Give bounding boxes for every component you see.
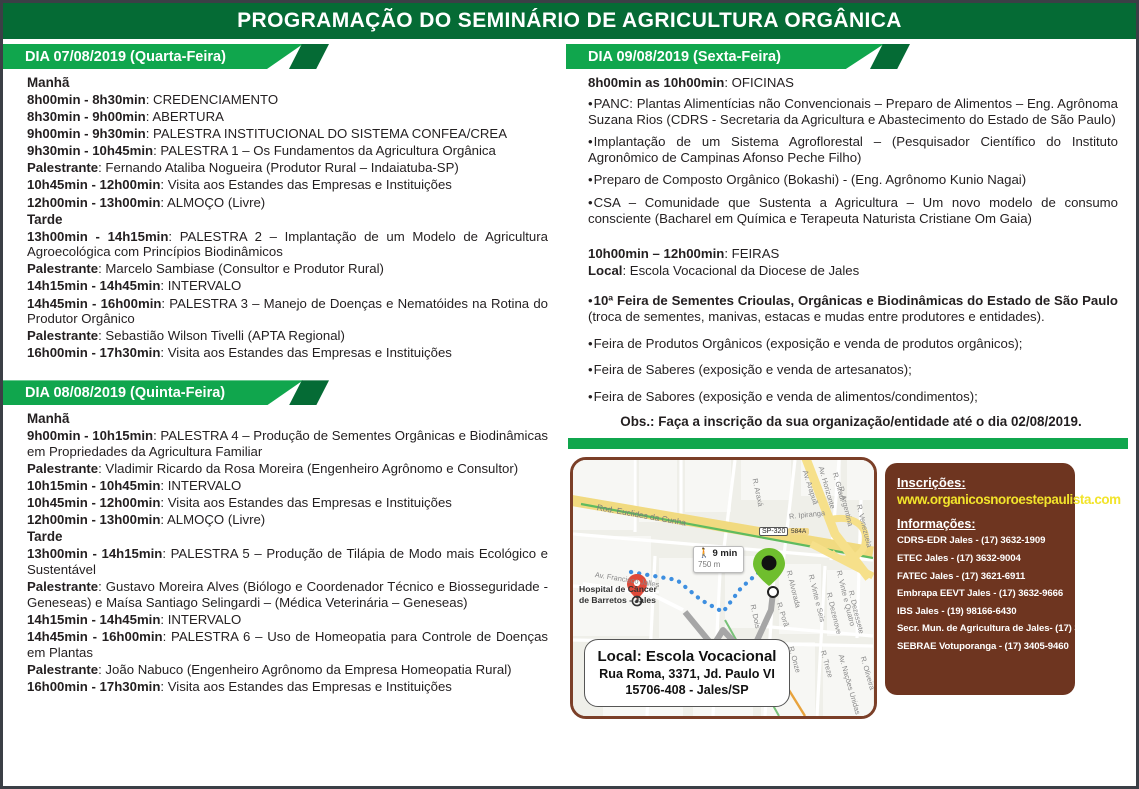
oficina-item: CSA – Comunidade que Sustenta a Agricult… [588,195,1118,226]
time-label: 16h00min - 17h30min [27,345,160,360]
oficina-item: Implantação de um Sistema Agroflorestal … [588,134,1118,165]
schedule-line: 14h15min - 14h45min: INTERVALO [27,612,548,628]
location-map[interactable]: Rod. Euclides da Cunha Av. Francisco Jal… [570,457,877,719]
walk-minutes: 9 min [712,548,737,559]
speaker-line: Palestrante: Fernando Ataliba Nogueira (… [27,160,548,176]
activity-text: : PALESTRA 1 – Os Fundamentos da Agricul… [153,143,496,158]
day2-banner-label: DIA 08/08/2019 (Quinta-Feira) [3,385,225,401]
venue-address-line1: Rua Roma, 3371, Jd. Paulo VI [591,666,783,682]
contact-item: SEBRAE Votuporanga - (17) 3405-9460 [897,642,1065,653]
time-label: 10h15min - 10h45min [27,478,160,493]
contact-item: FATEC Jales - (17) 3621-6911 [897,572,1065,583]
activity-text: : ABERTURA [146,109,224,124]
time-label: 13h00min - 14h15min [27,229,168,244]
feira-item: Feira de Sabores (exposição e venda de a… [588,389,1118,405]
poster-title-bar: PROGRAMAÇÃO DO SEMINÁRIO DE AGRICULTURA … [3,3,1136,39]
day2-schedule: Manhã 9h00min - 10h15min: PALESTRA 4 – P… [3,411,566,694]
schedule-line: 16h00min - 17h30min: Visita aos Estandes… [27,679,548,695]
time-label: 13h00min - 14h15min [27,546,162,561]
feiras-line: 10h00min – 12h00min: FEIRAS [588,246,1118,262]
time-label: 8h30min - 9h00min [27,109,146,124]
feira-destaque-bold: 10ª Feira de Sementes Crioulas, Orgânica… [594,293,1118,308]
day2-afternoon-label: Tarde [27,529,548,545]
two-column-layout: DIA 07/08/2019 (Quarta-Feira) Manhã 8h00… [3,39,1136,787]
speaker-line: Palestrante: João Nabuco (Engenheiro Agr… [27,662,548,678]
inscricoes-heading: Inscrições: [897,475,1065,490]
schedule-line: 16h00min - 17h30min: Visita aos Estandes… [27,345,548,361]
schedule-line: 9h30min - 10h45min: PALESTRA 1 – Os Fund… [27,143,548,159]
time-label: 10h00min – 12h00min [588,246,724,261]
venue-address-line2: 15706-408 - Jales/SP [591,682,783,698]
oficina-item: Preparo de Composto Orgânico (Bokashi) -… [588,172,1118,188]
day3-banner-label: DIA 09/08/2019 (Sexta-Feira) [566,49,781,65]
day1-schedule: Manhã 8h00min - 8h30min: CREDENCIAMENTO … [3,75,566,361]
time-label: 9h00min - 10h15min [27,428,153,443]
hospital-line-1: Hospital de Câncer [579,584,657,594]
speaker-label: Palestrante [27,261,98,276]
time-label: 10h45min - 12h00min [27,495,160,510]
schedule-line: 8h00min - 8h30min: CREDENCIAMENTO [27,92,548,108]
hospital-label: Hospital de Câncer de Barretos - Jales [579,584,657,605]
highway-shield-secondary: 584A [788,528,809,535]
speaker-line: Palestrante: Gustavo Moreira Alves (Biól… [27,579,548,610]
walk-time-badge: 🚶 9 min 750 m [693,546,744,572]
contact-item: CDRS-EDR Jales - (17) 3632-1909 [897,536,1065,547]
schedule-line: 12h00min - 13h00min: ALMOÇO (Livre) [27,195,548,211]
day1-banner-label: DIA 07/08/2019 (Quarta-Feira) [3,49,226,65]
speaker-label: Palestrante [27,328,98,343]
schedule-line: 13h00min - 14h15min: PALESTRA 2 – Implan… [27,229,548,260]
local-line: Local: Escola Vocacional da Diocese de J… [588,263,1118,279]
time-label: 14h45min - 16h00min [27,629,163,644]
feira-item: Feira de Saberes (exposição e venda de a… [588,362,1118,378]
activity-text: : INTERVALO [160,478,241,493]
day2-morning-label: Manhã [27,411,548,427]
schedule-line: 10h45min - 12h00min: Visita aos Estandes… [27,177,548,193]
walk-time-value: 🚶 9 min [698,549,737,560]
time-label: 9h30min - 10h45min [27,143,153,158]
local-text: : Escola Vocacional da Diocese de Jales [622,263,859,278]
schedule-line: 12h00min - 13h00min: ALMOÇO (Livre) [27,512,548,528]
speaker-text: : Fernando Ataliba Nogueira (Produtor Ru… [98,160,459,175]
contact-item: IBS Jales - (19) 98166-6430 [897,607,1065,618]
speaker-line: Palestrante: Marcelo Sambiase (Consultor… [27,261,548,277]
informacoes-heading: Informações: [897,517,1065,531]
schedule-line: 14h45min - 16h00min: PALESTRA 3 – Manejo… [27,296,548,327]
day1-afternoon-label: Tarde [27,212,548,228]
day3-schedule: 8h00min as 10h00min: OFICINAS PANC: Plan… [566,75,1136,429]
activity-text: : ALMOÇO (Livre) [160,512,265,527]
spacer [3,362,566,375]
activity-text: : Visita aos Estandes das Empresas e Ins… [160,495,452,510]
speaker-text: : Marcelo Sambiase (Consultor e Produtor… [98,261,384,276]
schedule-line: 9h00min - 10h15min: PALESTRA 4 – Produçã… [27,428,548,459]
time-label: 8h00min - 8h30min [27,92,146,107]
speaker-text: : Sebastião Wilson Tivelli (APTA Regiona… [98,328,345,343]
contact-item: Embrapa EEVT Jales - (17) 3632-9666 [897,589,1065,600]
activity-text: : Visita aos Estandes das Empresas e Ins… [160,679,452,694]
time-label: 14h15min - 14h45min [27,278,160,293]
spacer [588,280,1118,293]
schedule-line: 13h00min - 14h15min: PALESTRA 5 – Produç… [27,546,548,577]
local-label: Local [588,263,622,278]
speaker-text: : Gustavo Moreira Alves (Biólogo e Coord… [27,579,548,610]
activity-text: : Visita aos Estandes das Empresas e Ins… [160,345,452,360]
contact-item: ETEC Jales - (17) 3632-9004 [897,554,1065,565]
activity-text: : ALMOÇO (Livre) [160,195,265,210]
hospital-line-2: de Barretos - Jales [579,595,657,605]
speaker-label: Palestrante [27,461,98,476]
speaker-label: Palestrante [27,662,98,677]
activity-text: : OFICINAS [724,75,794,90]
activity-text: : PALESTRA INSTITUCIONAL DO SISTEMA CONF… [146,126,507,141]
day-banner-09-08: DIA 09/08/2019 (Sexta-Feira) [566,44,1136,69]
feira-destaque: 10ª Feira de Sementes Crioulas, Orgânica… [588,293,1118,324]
speaker-line: Palestrante: Sebastião Wilson Tivelli (A… [27,328,548,344]
day1-morning-label: Manhã [27,75,548,91]
time-label: 14h15min - 14h45min [27,612,160,627]
schedule-line: 8h30min - 9h00min: ABERTURA [27,109,548,125]
feira-destaque-rest: (troca de sementes, manivas, estacas e m… [588,309,1045,324]
poster-page: PROGRAMAÇÃO DO SEMINÁRIO DE AGRICULTURA … [0,0,1139,789]
day-banner-07-08: DIA 07/08/2019 (Quarta-Feira) [3,44,566,69]
schedule-line: 14h45min - 16h00min: PALESTRA 6 – Uso de… [27,629,548,660]
speaker-text: : João Nabuco (Engenheiro Agrônomo da Em… [98,662,511,677]
bottom-info-area: Rod. Euclides da Cunha Av. Francisco Jal… [566,449,1136,719]
contact-item: Secr. Mun. de Agricultura de Jales- (17)… [897,624,1065,635]
right-column: DIA 09/08/2019 (Sexta-Feira) 8h00min as … [566,39,1136,787]
spacer [588,233,1118,246]
left-column: DIA 07/08/2019 (Quarta-Feira) Manhã 8h00… [3,39,566,787]
time-label: 14h45min - 16h00min [27,296,161,311]
page-title: PROGRAMAÇÃO DO SEMINÁRIO DE AGRICULTURA … [237,9,902,33]
speaker-label: Palestrante [27,160,98,175]
day-banner-08-08: DIA 08/08/2019 (Quinta-Feira) [3,380,566,405]
green-separator-bar [568,438,1128,449]
time-label: 12h00min - 13h00min [27,512,160,527]
speaker-text: : Vladimir Ricardo da Rosa Moreira (Enge… [98,461,518,476]
time-label: 12h00min - 13h00min [27,195,160,210]
registration-note: Obs.: Faça a inscrição da sua organizaçã… [588,414,1118,429]
time-label: 8h00min as 10h00min [588,75,724,90]
activity-text: : INTERVALO [160,612,241,627]
oficinas-line: 8h00min as 10h00min: OFICINAS [588,75,1118,91]
activity-text: : CREDENCIAMENTO [146,92,278,107]
walk-distance: 750 m [698,560,737,569]
activity-text: : Visita aos Estandes das Empresas e Ins… [160,177,452,192]
time-label: 9h00min - 9h30min [27,126,146,141]
highway-shield: SP-320 [759,527,788,536]
speaker-line: Palestrante: Vladimir Ricardo da Rosa Mo… [27,461,548,477]
activity-text: : INTERVALO [160,278,241,293]
activity-text: : FEIRAS [724,246,779,261]
venue-address-callout: Local: Escola Vocacional Rua Roma, 3371,… [584,639,790,707]
time-label: 16h00min - 17h30min [27,679,160,694]
schedule-line: 9h00min - 9h30min: PALESTRA INSTITUCIONA… [27,126,548,142]
time-label: 10h45min - 12h00min [27,177,160,192]
venue-name: Local: Escola Vocacional [591,647,783,666]
schedule-line: 14h15min - 14h45min: INTERVALO [27,278,548,294]
feira-item: Feira de Produtos Orgânicos (exposição e… [588,336,1118,352]
registration-website-link[interactable]: www.organicosnoroestepaulista.com [897,492,1065,507]
oficina-item: PANC: Plantas Alimentícias não Convencio… [588,96,1118,127]
schedule-line: 10h15min - 10h45min: INTERVALO [27,478,548,494]
walking-person-icon: 🚶 [698,548,710,559]
schedule-line: 10h45min - 12h00min: Visita aos Estandes… [27,495,548,511]
contact-card: Inscrições: www.organicosnoroestepaulist… [885,463,1075,695]
speaker-label: Palestrante [27,579,98,594]
